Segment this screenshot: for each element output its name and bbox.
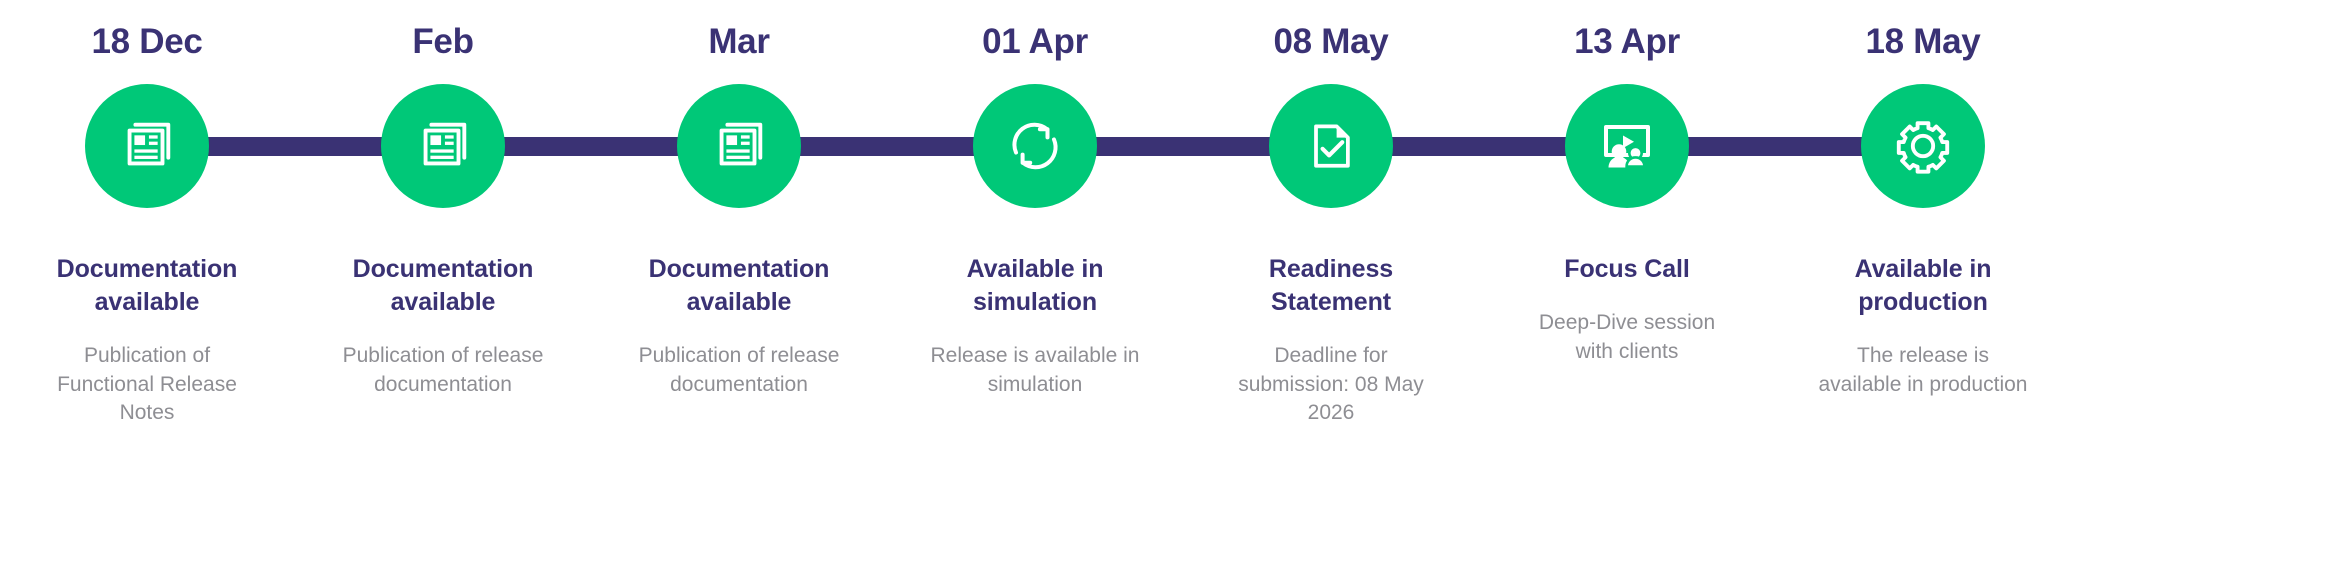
milestone-node	[0, 84, 295, 208]
milestone-icon-circle[interactable]	[85, 84, 209, 208]
milestone-description: Publication of Functional Release Notes	[42, 342, 252, 428]
milestone-description: The release is available in production	[1818, 342, 2028, 399]
milestone-title: Documentation available	[27, 253, 267, 319]
milestone-date: Mar	[708, 0, 769, 84]
timeline-milestone[interactable]: 08 May Readiness Statement Deadline for …	[1183, 0, 1479, 428]
newspaper-icon	[116, 115, 178, 177]
milestone-icon-circle[interactable]	[381, 84, 505, 208]
milestone-date: 18 May	[1866, 0, 1981, 84]
milestone-icon-circle[interactable]	[973, 84, 1097, 208]
milestone-date: 18 Dec	[91, 0, 202, 84]
release-timeline: 18 Dec Documentation available	[0, 0, 2330, 578]
timeline-milestone[interactable]: 18 May Available in production The relea…	[1775, 0, 2071, 399]
milestone-description: Release is available in simulation	[930, 342, 1140, 399]
timeline-milestone[interactable]: 01 Apr Available in simulation Release i…	[887, 0, 1183, 399]
document-check-icon	[1301, 116, 1361, 176]
milestone-icon-circle[interactable]	[1861, 84, 1985, 208]
milestone-title: Available in production	[1803, 253, 2043, 319]
milestone-icon-circle[interactable]	[1269, 84, 1393, 208]
milestone-title: Focus Call	[1507, 253, 1747, 286]
milestone-description: Deep-Dive session with clients	[1522, 309, 1732, 366]
sync-refresh-icon	[1003, 114, 1067, 178]
newspaper-icon	[708, 115, 770, 177]
milestone-date: 13 Apr	[1574, 0, 1680, 84]
timeline-milestone[interactable]: Feb Documentation available Pu	[295, 0, 591, 399]
milestone-icon-circle[interactable]	[1565, 84, 1689, 208]
timeline-milestone[interactable]: 18 Dec Documentation available	[0, 0, 295, 428]
milestone-date: 08 May	[1274, 0, 1389, 84]
milestone-title: Available in simulation	[915, 253, 1155, 319]
presentation-people-icon	[1595, 114, 1659, 178]
milestone-description: Publication of release documentation	[338, 342, 548, 399]
timeline-milestone[interactable]: 13 Apr Focus Call Deep-Dive session with…	[1479, 0, 1775, 366]
milestone-date: 01 Apr	[982, 0, 1088, 84]
gear-icon	[1892, 115, 1954, 177]
milestone-description: Deadline for submission: 08 May 2026	[1226, 342, 1436, 428]
milestone-title: Documentation available	[323, 253, 563, 319]
milestone-icon-circle[interactable]	[677, 84, 801, 208]
milestone-date: Feb	[412, 0, 473, 84]
milestone-description: Publication of release documentation	[634, 342, 844, 399]
milestone-title: Readiness Statement	[1211, 253, 1451, 319]
newspaper-icon	[412, 115, 474, 177]
milestone-title: Documentation available	[619, 253, 859, 319]
timeline-milestone[interactable]: Mar Documentation available Pu	[591, 0, 887, 399]
